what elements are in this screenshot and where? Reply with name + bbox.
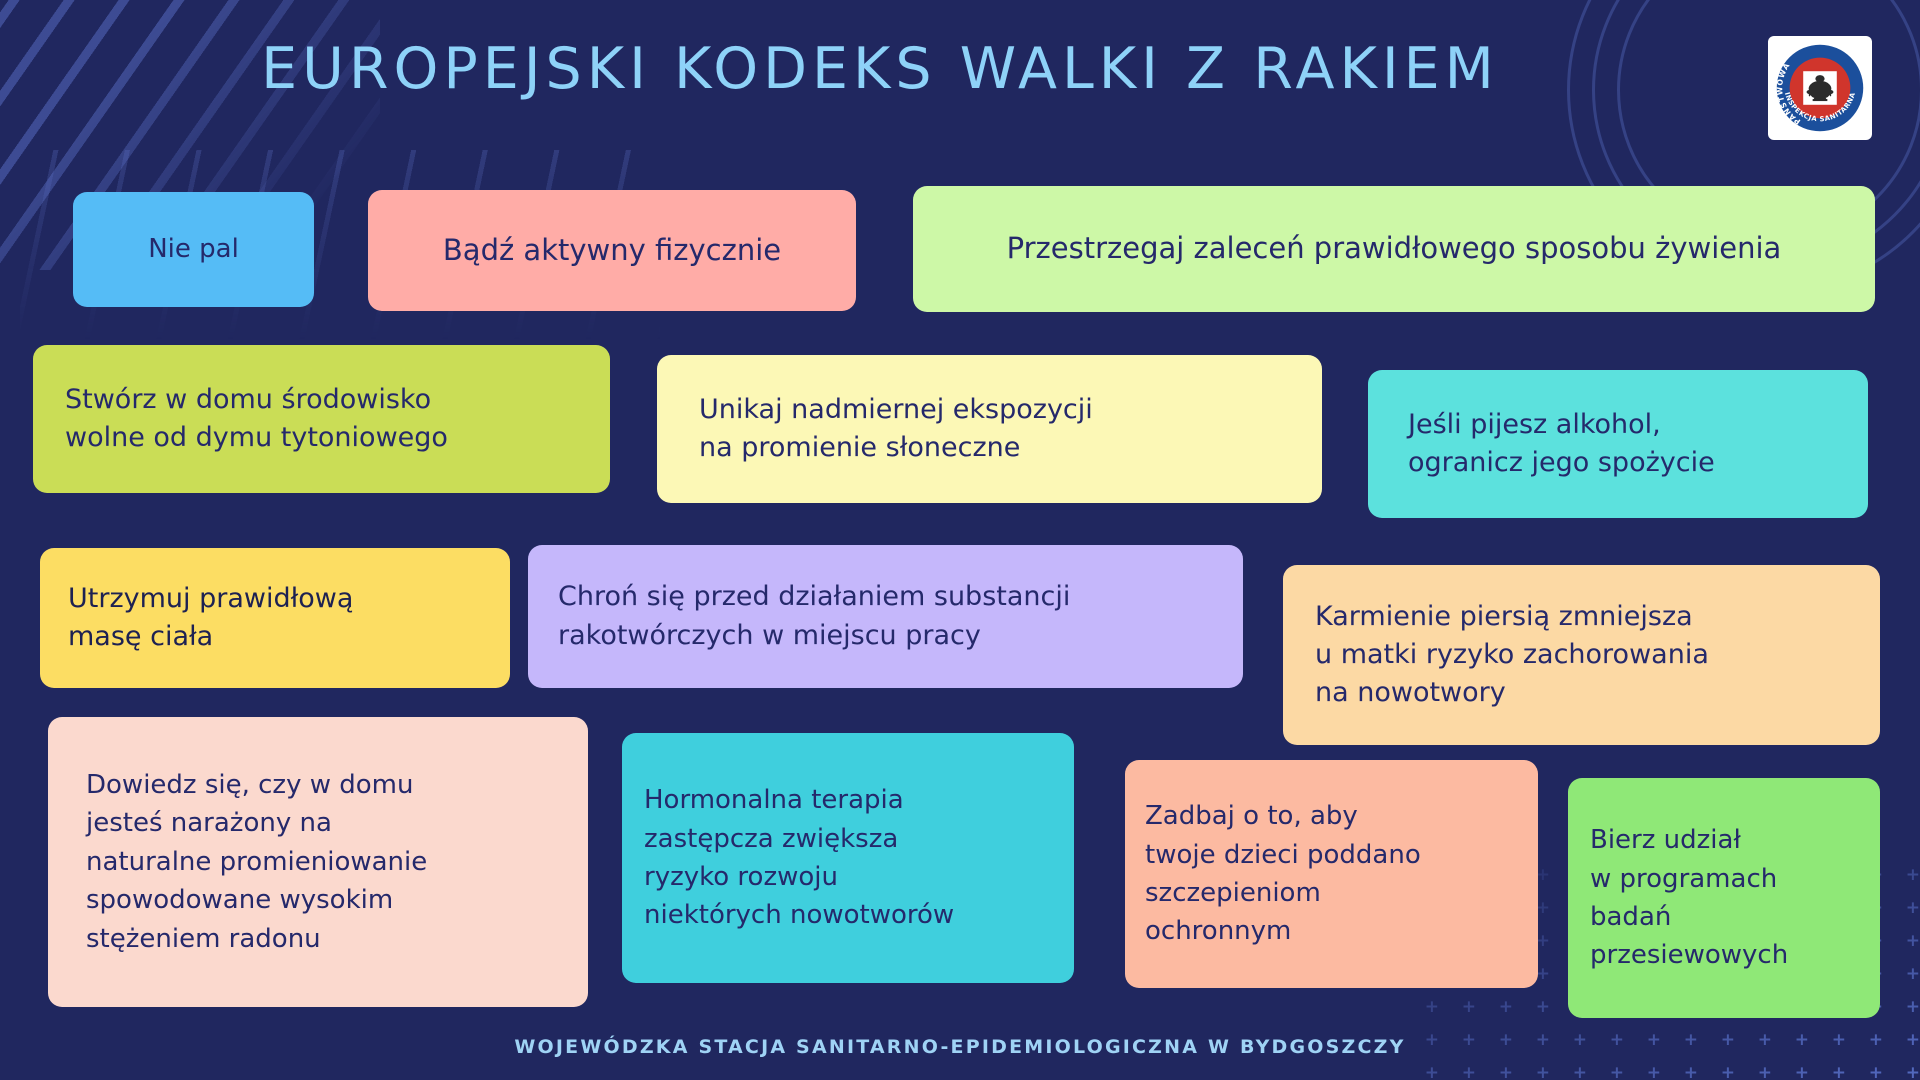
recommendation-card-terapia-hormonalna[interactable]: Hormonalna terapia zastępcza zwiększa ry… xyxy=(622,733,1074,983)
recommendation-card-szczepienia[interactable]: Zadbaj o to, aby twoje dzieci poddano sz… xyxy=(1125,760,1538,988)
poster-header: EUROPEJSKI KODEKS WALKI Z RAKIEM PAŃSTWO… xyxy=(0,0,1920,150)
recommendation-card-sloneczne[interactable]: Unikaj nadmiernej ekspozycji na promieni… xyxy=(657,355,1322,503)
card-text: Stwórz w domu środowisko wolne od dymu t… xyxy=(65,381,578,458)
recommendation-card-radon[interactable]: Dowiedz się, czy w domu jesteś narażony … xyxy=(48,717,588,1007)
sanitary-inspection-seal-icon: PAŃSTWOWA INSPEKCJA SANITARNA xyxy=(1774,42,1866,134)
recommendation-card-aktywnosc[interactable]: Bądź aktywny fizycznie xyxy=(368,190,856,311)
recommendation-card-dym-tytoniowy[interactable]: Stwórz w domu środowisko wolne od dymu t… xyxy=(33,345,610,493)
card-text: Przestrzegaj zaleceń prawidłowego sposob… xyxy=(913,228,1875,269)
card-text: Hormonalna terapia zastępcza zwiększa ry… xyxy=(644,781,1052,935)
poster-canvas: ++++++++++++++++++++++++++++++++++++++++… xyxy=(0,0,1920,1080)
recommendation-card-zywienie[interactable]: Przestrzegaj zaleceń prawidłowego sposob… xyxy=(913,186,1875,312)
card-text: Chroń się przed działaniem substancji ra… xyxy=(558,578,1213,655)
recommendation-card-badania-przesiewowe[interactable]: Bierz udział w programach badań przesiew… xyxy=(1568,778,1880,1018)
card-text: Nie pal xyxy=(73,231,314,268)
card-text: Unikaj nadmiernej ekspozycji na promieni… xyxy=(699,391,1280,468)
card-text: Karmienie piersią zmniejsza u matki ryzy… xyxy=(1315,598,1848,713)
card-text: Dowiedz się, czy w domu jesteś narażony … xyxy=(86,766,550,958)
recommendation-card-alkohol[interactable]: Jeśli pijesz alkohol, ogranicz jego spoż… xyxy=(1368,370,1868,518)
card-text: Utrzymuj prawidłową masę ciała xyxy=(68,580,482,657)
recommendation-card-substancje-rakotworcze[interactable]: Chroń się przed działaniem substancji ra… xyxy=(528,545,1243,688)
card-text: Zadbaj o to, aby twoje dzieci poddano sz… xyxy=(1145,797,1518,951)
card-text: Jeśli pijesz alkohol, ogranicz jego spoż… xyxy=(1408,406,1828,483)
card-text: Bądź aktywny fizycznie xyxy=(368,230,856,271)
recommendation-card-masa-ciala[interactable]: Utrzymuj prawidłową masę ciała xyxy=(40,548,510,688)
recommendation-card-nie-pal[interactable]: Nie pal xyxy=(73,192,314,307)
recommendation-card-karmienie-piersia[interactable]: Karmienie piersią zmniejsza u matki ryzy… xyxy=(1283,565,1880,745)
card-text: Bierz udział w programach badań przesiew… xyxy=(1590,821,1858,975)
poster-footer: WOJEWÓDZKA STACJA SANITARNO-EPIDEMIOLOGI… xyxy=(0,1036,1920,1058)
page-title: EUROPEJSKI KODEKS WALKI Z RAKIEM xyxy=(0,36,1760,102)
panstwowa-inspekcja-sanitarna-logo: PAŃSTWOWA INSPEKCJA SANITARNA xyxy=(1768,36,1872,140)
